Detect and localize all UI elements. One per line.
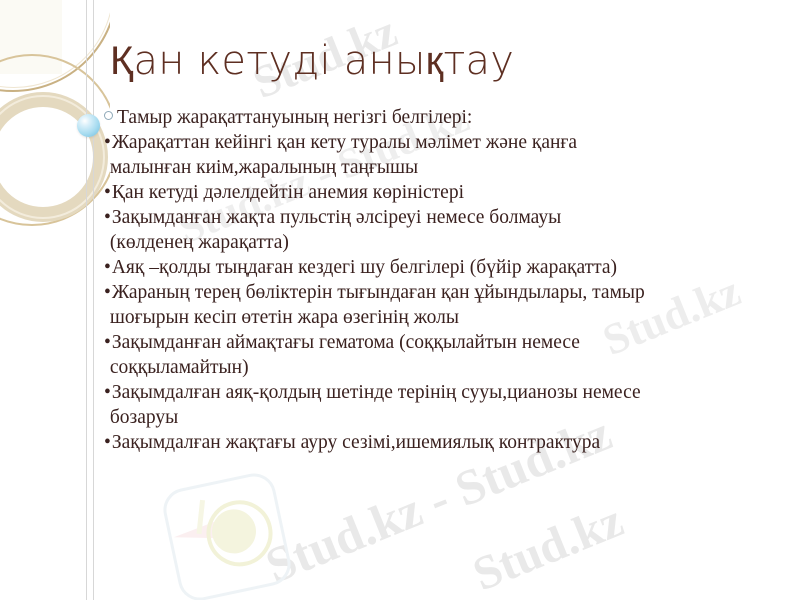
list-item: •Зақымданған аймақтағы гематома (соққыла… xyxy=(104,330,784,355)
list-item-text: Тамыр жарақаттануының негізгі белгілері: xyxy=(117,107,472,128)
list-item-text: шоғырын кесіп өтетін жара өзегінің жолы xyxy=(110,307,459,328)
dot-bullet-icon: • xyxy=(104,280,111,305)
dot-bullet-icon: • xyxy=(104,130,111,155)
list-item-text: Қан кетуді дәлелдейтін анемия көріністер… xyxy=(112,182,464,203)
list-item: Тамыр жарақаттануының негізгі белгілері: xyxy=(104,105,784,130)
list-item: •Зақымданған жақта пульстің әлсіреуі нем… xyxy=(104,205,784,230)
list-item-text: Зақымданған аймақтағы гематома (соққылай… xyxy=(112,332,580,353)
list-item: шоғырын кесіп өтетін жара өзегінің жолы xyxy=(104,305,784,330)
bullet-spacer xyxy=(104,405,109,430)
list-item: (көлденең жарақатта) xyxy=(104,230,784,255)
list-item-text: Зақымдалған аяқ-қолдың шетінде терінің с… xyxy=(112,382,641,403)
list-item-text: Аяқ –қолды тыңдаған кездегі шу белгілері… xyxy=(112,257,617,278)
list-item: •Зақымдалған жақтағы ауру сезімі,ишемиял… xyxy=(104,430,784,455)
decoration-ring xyxy=(0,92,108,222)
hollow-bullet-icon xyxy=(104,111,113,120)
page-title: Қан кетуді анықтау xyxy=(110,38,514,84)
list-item-text: Зақымданған жақта пульстің әлсіреуі неме… xyxy=(112,207,561,228)
dot-bullet-icon: • xyxy=(104,430,111,455)
list-item-text: (көлденең жарақатта) xyxy=(110,232,289,253)
dot-bullet-icon: • xyxy=(104,180,111,205)
list-item: •Жараның терең бөліктерін тығындаған қан… xyxy=(104,280,784,305)
list-item: бозаруы xyxy=(104,405,784,430)
watermark-text: Stud.kz xyxy=(465,493,630,600)
list-item: малынған киім,жаралының таңғышы xyxy=(104,155,784,180)
logo-disc-shape xyxy=(208,505,260,557)
dot-bullet-icon: • xyxy=(104,330,111,355)
presentation-slide: Stud.kz Stud.kz - Stud.kz Stud.kz - Stud… xyxy=(0,0,786,600)
vertical-divider-left xyxy=(86,0,87,600)
list-item: •Зақымдалған аяқ-қолдың шетінде терінің … xyxy=(104,380,784,405)
bullet-spacer xyxy=(104,305,109,330)
list-item: •Қан кетуді дәлелдейтін анемия көріністе… xyxy=(104,180,784,205)
logo-ring-shape xyxy=(200,494,278,572)
list-item-text: бозаруы xyxy=(110,407,178,428)
list-item-text: соққыламайтын) xyxy=(110,357,249,378)
dot-bullet-icon: • xyxy=(104,205,111,230)
dot-bullet-icon: • xyxy=(104,380,111,405)
watermark-logo-icon xyxy=(159,469,294,600)
list-item: соққыламайтын) xyxy=(104,355,784,380)
bullet-spacer xyxy=(104,355,109,380)
logo-wing-shape xyxy=(172,521,221,548)
decoration-panel xyxy=(0,0,62,74)
list-item-text: малынған киім,жаралының таңғышы xyxy=(110,157,418,178)
bullet-spacer xyxy=(104,155,109,180)
blue-sphere-accent-icon xyxy=(77,114,100,137)
list-item-text: Жараның терең бөліктерін тығындаған қан … xyxy=(112,282,645,303)
bullet-spacer xyxy=(104,230,109,255)
list-item: •Аяқ –қолды тыңдаған кездегі шу белгілер… xyxy=(104,255,784,280)
logo-stripe-shape xyxy=(197,500,206,534)
list-item: •Жарақаттан кейінгі қан кету туралы мәлі… xyxy=(104,130,784,155)
list-item-text: Зақымдалған жақтағы ауру сезімі,ишемиялы… xyxy=(112,432,600,453)
vertical-divider-right xyxy=(93,0,94,600)
list-item-text: Жарақаттан кейінгі қан кету туралы мәлім… xyxy=(112,132,577,153)
bullet-list: Тамыр жарақаттануының негізгі белгілері:… xyxy=(104,105,784,455)
dot-bullet-icon: • xyxy=(104,255,111,280)
